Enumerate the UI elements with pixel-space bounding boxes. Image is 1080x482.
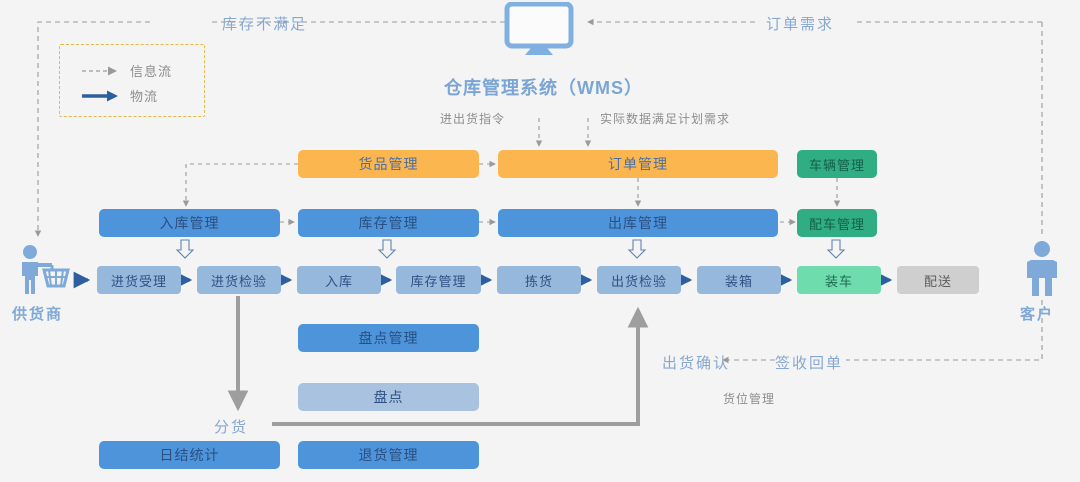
legend-box: 信息流 物流 [59, 44, 205, 117]
module-outbound-management[interactable]: 出库管理 [498, 209, 778, 237]
label-in-out-command: 进出货指令 [440, 110, 505, 127]
module-goods-management[interactable]: 货品管理 [298, 150, 479, 178]
process-loading[interactable]: 装车 [797, 266, 881, 294]
label-actual-data: 实际数据满足计划需求 [600, 110, 730, 127]
process-delivery[interactable]: 配送 [897, 266, 979, 294]
monitor-icon [503, 2, 575, 58]
module-daily-settlement-statistics[interactable]: 日结统计 [99, 441, 280, 469]
module-stocktaking-management[interactable]: 盘点管理 [298, 324, 479, 352]
label-stock-insufficient: 库存不满足 [222, 13, 307, 34]
legend-row-logistics: 物流 [82, 86, 158, 105]
process-packing[interactable]: 装箱 [697, 266, 781, 294]
module-inventory-management[interactable]: 库存管理 [298, 209, 479, 237]
module-stocktaking[interactable]: 盘点 [298, 383, 479, 411]
info-flow-order-demand [588, 22, 1042, 238]
legend-row-info-flow: 信息流 [82, 61, 172, 80]
process-putaway[interactable]: 入库 [297, 266, 381, 294]
info-flow-signed-receipt [723, 300, 1042, 360]
module-vehicle-management[interactable]: 车辆管理 [797, 150, 877, 178]
wms-flow-diagram: 信息流 物流 库存不满足 订单需求 仓库管理系统（WMS） 进出货指令 实际数据… [0, 0, 1080, 482]
module-return-management[interactable]: 退货管理 [298, 441, 479, 469]
supplier-label: 供货商 [12, 303, 63, 324]
process-intake-acceptance[interactable]: 进货受理 [97, 266, 181, 294]
supplier-person-basket-icon [12, 244, 72, 296]
label-shipment-confirm: 出货确认 [662, 352, 730, 373]
process-picking[interactable]: 拣货 [497, 266, 581, 294]
legend-label-info-flow: 信息流 [130, 61, 172, 80]
wms-title: 仓库管理系统（WMS） [444, 74, 643, 100]
solid-arrow-icon [82, 90, 120, 102]
label-location-management: 货位管理 [723, 390, 775, 407]
dashed-arrow-icon [82, 65, 120, 77]
customer-person-icon [1018, 240, 1066, 298]
process-shipment-inspection[interactable]: 出货检验 [597, 266, 681, 294]
info-flow-goods-to-inbound [186, 164, 298, 206]
module-inbound-management[interactable]: 入库管理 [99, 209, 280, 237]
module-dispatch-management[interactable]: 配车管理 [797, 209, 877, 237]
legend-label-logistics: 物流 [130, 86, 158, 105]
label-distribute-goods: 分货 [214, 416, 248, 437]
process-inventory-management[interactable]: 库存管理 [396, 266, 481, 294]
hollow-down-arrows [177, 240, 844, 258]
label-signed-receipt: 签收回单 [775, 352, 843, 373]
process-intake-inspection[interactable]: 进货检验 [197, 266, 281, 294]
label-order-demand: 订单需求 [766, 13, 834, 34]
customer-label: 客户 [1020, 303, 1054, 324]
module-order-management[interactable]: 订单管理 [498, 150, 778, 178]
